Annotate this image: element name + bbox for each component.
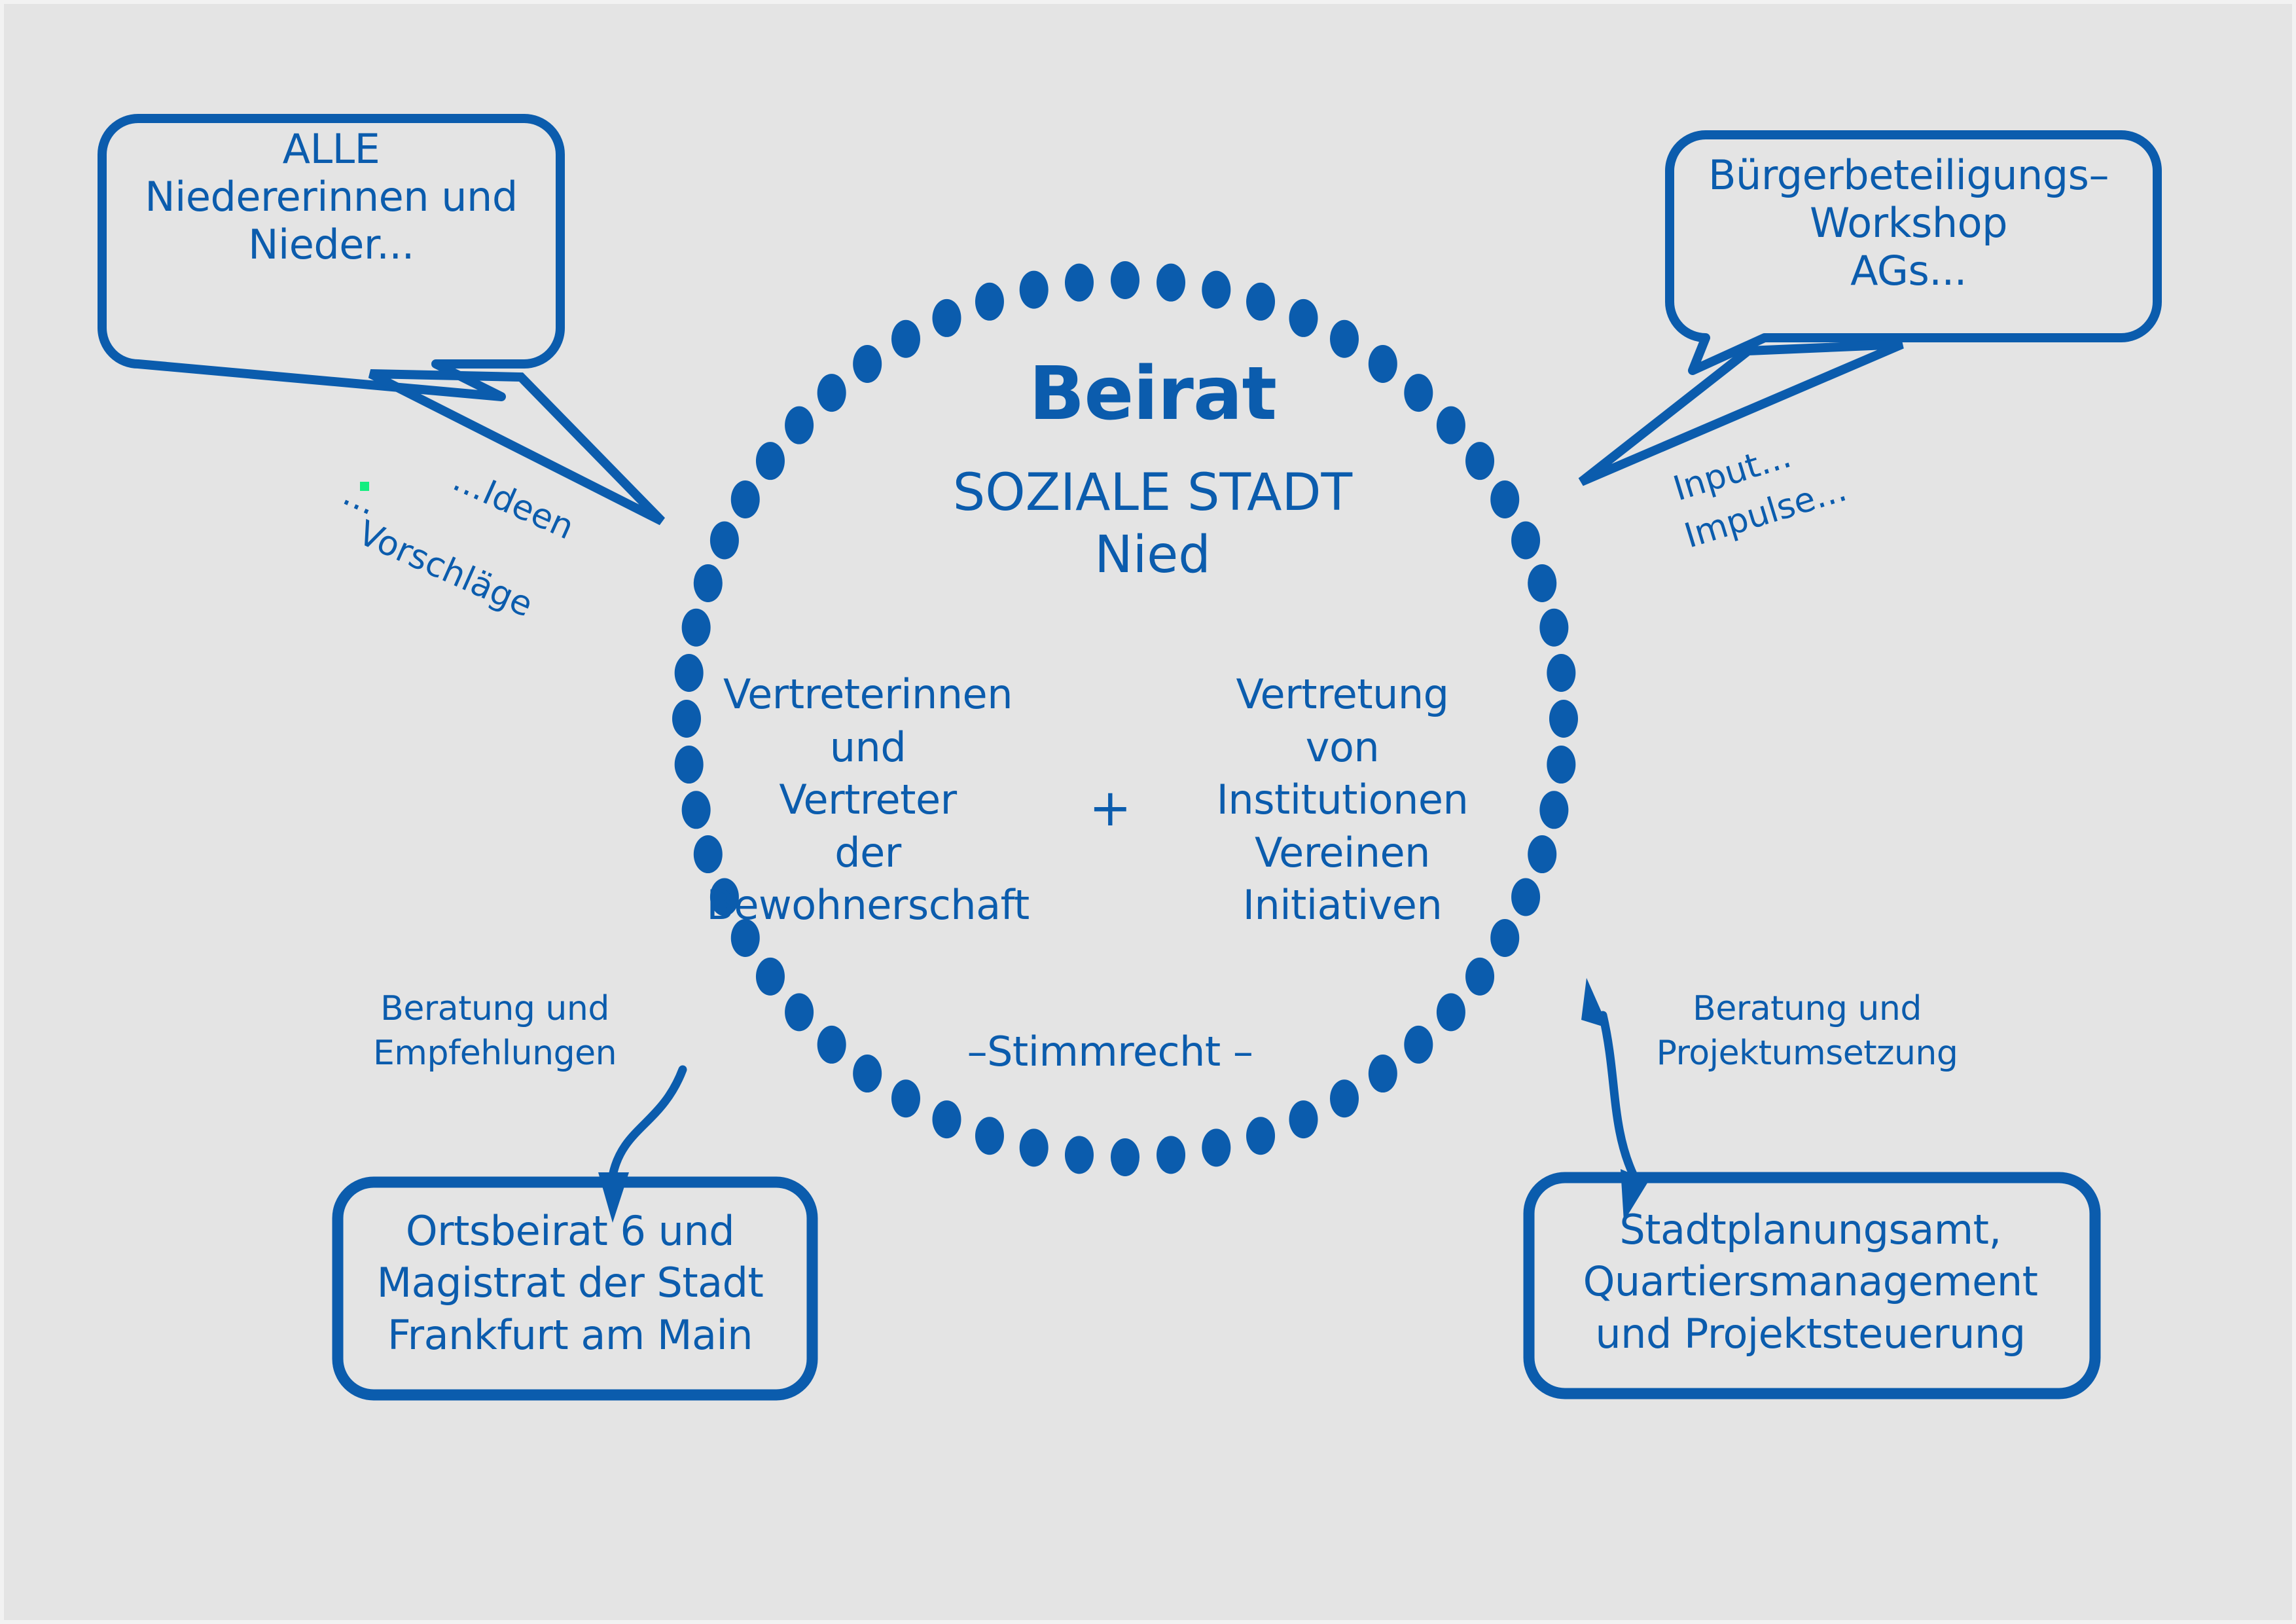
circle-dot (1549, 700, 1578, 738)
circle-dot (710, 521, 739, 559)
box-bottom-left-label: Ortsbeirat 6 und Magistrat der Stadt Fra… (344, 1205, 796, 1361)
green-marker-icon (360, 482, 369, 491)
circle-column-right: Vertretung von Institutionen Vereinen In… (1175, 668, 1509, 932)
circle-dot (1528, 564, 1556, 602)
circle-footer-stimmrecht: –Stimmrecht – (881, 1032, 1339, 1072)
circle-dot (1157, 1136, 1185, 1174)
circle-dot (1539, 791, 1568, 829)
circle-dot (891, 320, 920, 358)
circle-dot (1020, 1128, 1049, 1166)
circle-dot (932, 1100, 961, 1138)
circle-dot (1369, 1055, 1397, 1092)
circle-dot (1020, 271, 1049, 309)
circle-dot (1511, 878, 1540, 916)
circle-dot (817, 1026, 846, 1064)
circle-dot (975, 1117, 1004, 1155)
circle-dot (682, 609, 711, 647)
box-bottom-right-label: Stadtplanungsamt, Quartiersmanagement un… (1535, 1204, 2085, 1360)
circle-dot (891, 1079, 920, 1117)
circle-dot (1289, 1100, 1318, 1138)
plus-symbol: + (1071, 783, 1149, 834)
circle-column-left: Vertreterinnen und Vertreter der Bewohne… (691, 668, 1045, 932)
circle-dot (1528, 835, 1556, 873)
circle-dot (975, 283, 1004, 321)
circle-dot (853, 1055, 882, 1092)
circle-dot (1330, 1079, 1359, 1117)
circle-subtitle: SOZIALE STADT Nied (776, 462, 1529, 586)
circle-dot (1289, 299, 1318, 337)
circle-dot (1065, 264, 1094, 302)
circle-dot (1111, 1138, 1139, 1176)
circle-dot (756, 958, 785, 996)
circle-dot (1157, 264, 1185, 302)
speech-bubble-right-label: Bürgerbeteiligungs– Workshop AGs... (1666, 151, 2151, 295)
circle-dot (1547, 746, 1575, 784)
circle-dot (1246, 283, 1275, 321)
circle-dot (1404, 1026, 1433, 1064)
annotation-beratung-empfehlungen: Beratung und Empfehlungen (351, 987, 639, 1075)
speech-bubble-left-label: ALLE Niedererinnen und Nieder... (96, 125, 567, 268)
circle-dot (1547, 654, 1575, 692)
circle-dot (1246, 1117, 1275, 1155)
circle-dot (731, 480, 760, 518)
circle-dot (1202, 271, 1230, 309)
circle-dot (1202, 1128, 1230, 1166)
circle-dot (1065, 1136, 1094, 1174)
circle-dot (1111, 261, 1139, 299)
circle-dot (1330, 320, 1359, 358)
circle-title: Beirat (776, 357, 1529, 431)
annotation-beratung-projektumsetzung: Beratung und Projektumsetzung (1637, 987, 1977, 1075)
circle-dot (932, 299, 961, 337)
circle-dot (1465, 958, 1494, 996)
circle-dot (785, 993, 814, 1031)
circle-dot (1437, 993, 1465, 1031)
diagram-canvas: ALLE Niedererinnen und Nieder... Bürgerb… (0, 0, 2296, 1624)
arrow-down-left (598, 1070, 683, 1223)
circle-dot (1539, 609, 1568, 647)
circle-dot (694, 564, 723, 602)
